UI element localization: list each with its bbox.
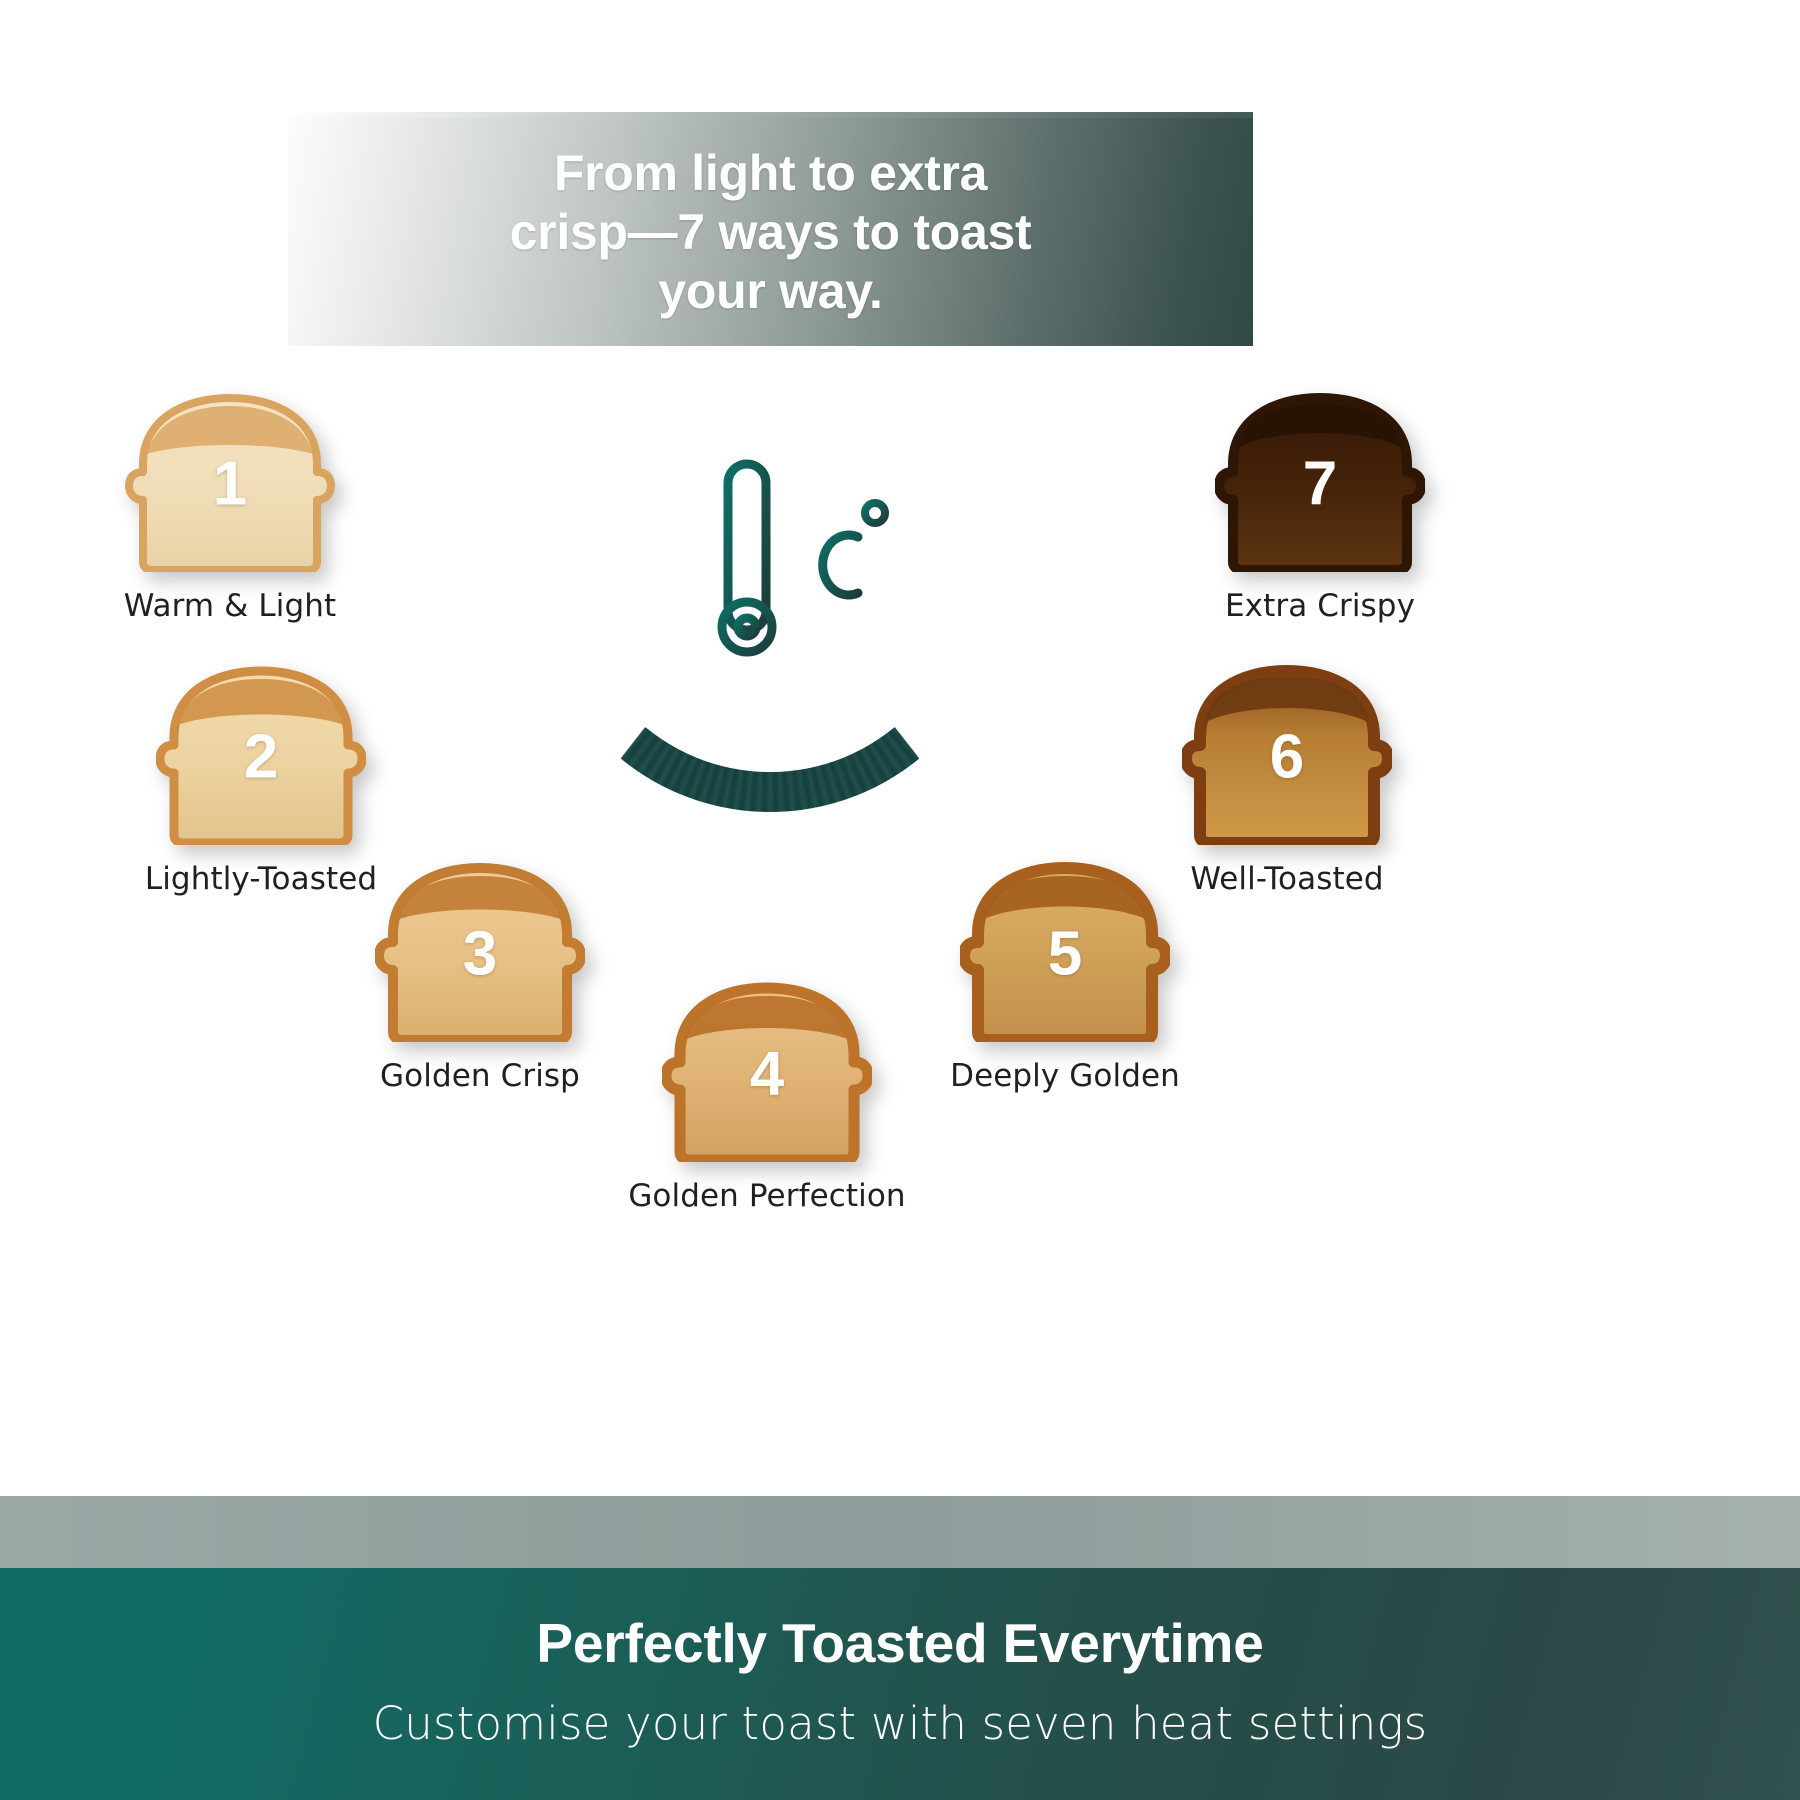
top-banner: From light to extra crisp—7 ways to toas… [288, 118, 1253, 346]
bread-slice-2: 2 [156, 665, 366, 845]
page-title: From light to extra crisp—7 ways to toas… [470, 144, 1072, 321]
bottom-banner-accent-strip [0, 1496, 1800, 1568]
toast-label: Golden Crisp [330, 1058, 630, 1094]
footer-subtitle: Customise your toast with seven heat set… [373, 1697, 1428, 1750]
bread-slice-1: 1 [125, 392, 335, 572]
bottom-banner: Perfectly Toasted Everytime Customise yo… [0, 1568, 1800, 1800]
toast-label: Warm & Light [80, 588, 380, 624]
toast-level-3[interactable]: 3 Golden Crisp [330, 862, 630, 1094]
bread-slice-icon [1182, 665, 1392, 845]
bread-slice-icon [375, 862, 585, 1042]
bread-slice-4: 4 [662, 982, 872, 1162]
toast-level-6[interactable]: 6 Well-Toasted [1137, 665, 1437, 897]
bread-slice-icon [662, 982, 872, 1162]
toast-label: Golden Perfection [617, 1178, 917, 1214]
toast-level-1[interactable]: 1 Warm & Light [80, 392, 380, 624]
bread-slice-6: 6 [1182, 665, 1392, 845]
bread-slice-icon [125, 392, 335, 572]
bread-slice-7: 7 [1215, 392, 1425, 572]
bread-slice-icon [1215, 392, 1425, 572]
toast-label: Well-Toasted [1137, 861, 1437, 897]
toast-level-4[interactable]: 4 Golden Perfection [617, 982, 917, 1214]
footer-title: Perfectly Toasted Everytime [536, 1611, 1263, 1675]
toast-label: Extra Crispy [1170, 588, 1470, 624]
toast-label: Deeply Golden [915, 1058, 1215, 1094]
bread-slice-icon [156, 665, 366, 845]
dial-arc-ticks-icon [460, 595, 1080, 825]
toast-level-7[interactable]: 7 Extra Crispy [1170, 392, 1470, 624]
bread-slice-3: 3 [375, 862, 585, 1042]
